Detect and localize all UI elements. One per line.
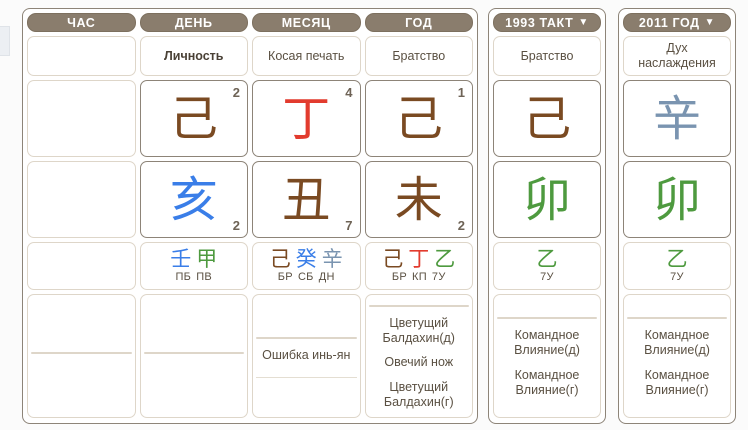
notes-cell-0[interactable] [27,294,136,418]
luck-notes-cell[interactable]: Командное Влияние(д)Командное Влияние(г) [493,294,601,418]
ten-god-label: Личность [164,49,224,64]
hidden-stem-char: 乙 [537,248,558,270]
hidden-stem-label: БР [278,271,293,284]
pillar-header-2[interactable]: МЕСЯЦ [252,13,361,32]
hidden-stem-char: 己 [270,248,291,270]
notes-top-divider [627,317,727,319]
note-line: Командное Влияние(г) [497,368,597,399]
pillar-column-месяц: МЕСЯЦКосая печать丁4丑7己癸辛БРСБДНОшибка инь… [252,13,361,418]
hidden-stems-cell-2[interactable]: 己癸辛БРСБДН [252,242,361,290]
hidden-stems-cell-3-labels: БРКП7У [392,271,446,284]
chevron-down-icon: ▼ [705,18,716,28]
luck-hidden-cell-labels: 7У [540,271,554,284]
note-line: Командное Влияние(д) [627,328,727,359]
earthly-branch-cell-3[interactable]: 未2 [365,161,474,238]
pillar-column-год: ГОДБратство己1未2己丁乙БРКП7УЦветущий Балдахи… [365,13,474,418]
note-line: Командное Влияние(д) [497,328,597,359]
earthly-branch-cell-0[interactable] [27,161,136,238]
year-header[interactable]: 2011 ГОД▼ [623,13,731,32]
ten-god-cell: Косая печать [252,36,361,76]
hidden-stem-label: 7У [670,271,684,284]
ten-god-cell: Дух наслаждения [623,36,731,76]
hidden-stem-char: 壬 [170,248,191,270]
heavenly-stem-cell-2-char: 丁 [282,95,330,143]
hidden-stems-cell-0[interactable] [27,242,136,290]
heavenly-stem-cell-3-number: 1 [458,85,465,100]
heavenly-stem-cell-1-number: 2 [233,85,240,100]
hidden-stem-label: 7У [540,271,554,284]
luck-stem-cell[interactable]: 己 [493,80,601,157]
notes-cell-2[interactable]: Ошибка инь-ян [252,294,361,418]
hidden-stems-cell-3-chars: 己丁乙 [382,248,455,270]
hidden-stem-label: БР [392,271,407,284]
notes-cell-3[interactable]: Цветущий Балдахин(д)Овечий ножЦветущий Б… [365,294,474,418]
heavenly-stem-cell-2-number: 4 [345,85,352,100]
notes-cell-1[interactable] [140,294,249,418]
chevron-down-icon: ▼ [578,18,589,28]
note-line: Овечий нож [369,355,470,370]
header-label: ЧАС [67,16,95,30]
header-label: ГОД [405,16,432,30]
hidden-stem-char: 丁 [408,248,429,270]
notes-inner: Командное Влияние(д)Командное Влияние(г) [627,328,727,398]
pillar-column-день: ДЕНЬЛичность己2亥2壬甲ПБПВ [140,13,249,418]
hidden-stem-label: СБ [298,271,314,284]
header-label: 1993 ТАКТ [505,16,573,30]
note-line: Ошибка инь-ян [256,348,357,363]
pillar-column-час: ЧАС [27,13,136,418]
heavenly-stem-cell-3[interactable]: 己1 [365,80,474,157]
hidden-stem-char: 辛 [322,248,343,270]
scrollbar-stub[interactable] [0,26,10,56]
heavenly-stem-cell-3-char: 己 [395,95,443,143]
notes-top-divider [256,337,357,339]
note-line: Цветущий Балдахин(г) [369,380,470,411]
hidden-stem-label: 7У [432,271,446,284]
year-branch-cell[interactable]: 卯 [623,161,731,238]
hidden-stem-label: ПБ [175,271,191,284]
year-hidden-cell-labels: 7У [670,271,684,284]
notes-top-divider [369,305,470,307]
notes-inner: Командное Влияние(д)Командное Влияние(г) [497,328,597,398]
header-label: 2011 ГОД [639,16,700,30]
ten-god-label: Дух наслаждения [627,41,727,71]
hidden-stem-label: КП [412,271,427,284]
hidden-stems-cell-2-chars: 己癸辛 [270,248,343,270]
notes-inner: Цветущий Балдахин(д)Овечий ножЦветущий Б… [369,316,470,410]
notes-inner: Ошибка инь-ян [256,348,357,378]
hidden-stems-cell-2-labels: БРСБДН [278,271,335,284]
ten-god-cell: Братство [493,36,601,76]
note-divider [256,377,357,378]
hidden-stems-cell-3[interactable]: 己丁乙БРКП7У [365,242,474,290]
hidden-stems-cell-1[interactable]: 壬甲ПБПВ [140,242,249,290]
luck-stem-cell-char: 己 [523,95,571,143]
bazi-chart-root: ЧАСДЕНЬЛичность己2亥2壬甲ПБПВМЕСЯЦКосая печа… [0,0,748,430]
heavenly-stem-cell-0[interactable] [27,80,136,157]
luck-hidden-cell[interactable]: 乙7У [493,242,601,290]
hidden-stems-cell-1-labels: ПБПВ [175,271,212,284]
hidden-stems-cell-1-chars: 壬甲 [170,248,217,270]
heavenly-stem-cell-1[interactable]: 己2 [140,80,249,157]
ten-god-label: Братство [521,49,574,64]
earthly-branch-cell-1-number: 2 [233,218,240,233]
year-stem-cell[interactable]: 辛 [623,80,731,157]
luck-pillar-panel: 1993 ТАКТ▼Братство己卯乙7УКомандное Влияние… [488,8,606,424]
hidden-stem-char: 甲 [196,248,217,270]
hidden-stem-char: 乙 [434,248,455,270]
luck-branch-cell-char: 卯 [523,176,571,224]
heavenly-stem-cell-2[interactable]: 丁4 [252,80,361,157]
luck-branch-cell[interactable]: 卯 [493,161,601,238]
hidden-stem-char: 癸 [296,248,317,270]
notes-top-divider [31,352,132,354]
ten-god-cell: Личность [140,36,249,76]
year-hidden-cell-chars: 乙 [667,248,688,270]
heavenly-stem-cell-1-char: 己 [170,95,218,143]
earthly-branch-cell-1[interactable]: 亥2 [140,161,249,238]
ten-god-cell: Братство [365,36,474,76]
earthly-branch-cell-1-char: 亥 [170,176,218,224]
luck-header[interactable]: 1993 ТАКТ▼ [493,13,601,32]
ten-god-cell [27,36,136,76]
header-label: МЕСЯЦ [282,16,331,30]
note-line: Цветущий Балдахин(д) [369,316,470,347]
earthly-branch-cell-2-number: 7 [345,218,352,233]
hidden-stem-label: ПВ [196,271,212,284]
four-pillars-panel: ЧАСДЕНЬЛичность己2亥2壬甲ПБПВМЕСЯЦКосая печа… [22,8,478,424]
header-label: ДЕНЬ [175,16,213,30]
hidden-stem-char: 乙 [667,248,688,270]
note-line: Командное Влияние(г) [627,368,727,399]
earthly-branch-cell-2-char: 丑 [282,176,330,224]
ten-god-label: Братство [392,49,445,64]
year-pillar-panel: 2011 ГОД▼Дух наслаждения辛卯乙7УКомандное В… [618,8,736,424]
year-branch-cell-char: 卯 [653,176,701,224]
pillar-header-1[interactable]: ДЕНЬ [140,13,249,32]
hidden-stem-char: 己 [382,248,403,270]
earthly-branch-cell-3-number: 2 [458,218,465,233]
notes-top-divider [497,317,597,319]
year-hidden-cell[interactable]: 乙7У [623,242,731,290]
ten-god-label: Косая печать [268,49,344,64]
year-stem-cell-char: 辛 [653,95,701,143]
notes-top-divider [144,352,245,354]
earthly-branch-cell-2[interactable]: 丑7 [252,161,361,238]
year-notes-cell[interactable]: Командное Влияние(д)Командное Влияние(г) [623,294,731,418]
pillar-header-0[interactable]: ЧАС [27,13,136,32]
earthly-branch-cell-3-char: 未 [395,176,443,224]
pillar-header-3[interactable]: ГОД [365,13,474,32]
hidden-stem-label: ДН [319,271,335,284]
luck-hidden-cell-chars: 乙 [537,248,558,270]
